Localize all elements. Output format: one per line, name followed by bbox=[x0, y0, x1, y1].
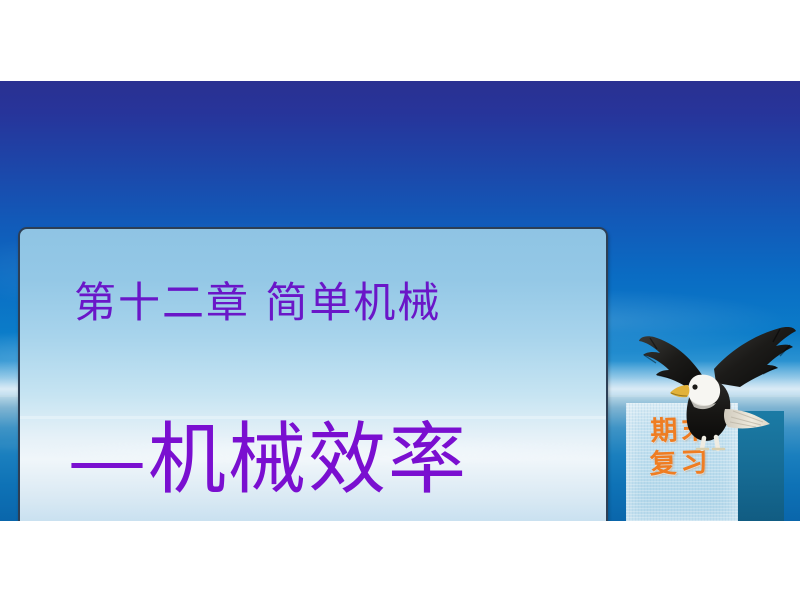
subtitle-mechanical-efficiency: —机械效率 bbox=[68, 421, 468, 499]
chapter-title: 第十二章 简单机械 bbox=[74, 281, 441, 325]
pedestal-text-line2: 复习 bbox=[622, 446, 739, 483]
title-content-panel: 第十二章 简单机械 —机械效率 bbox=[18, 227, 608, 521]
slide-stage: 期末 复习 bbox=[0, 0, 800, 600]
title-content-body: 第十二章 简单机械 —机械效率 bbox=[20, 229, 606, 521]
eagle-right-wing bbox=[714, 327, 796, 387]
eagle-icon bbox=[630, 321, 800, 451]
presentation-slide: 期末 复习 bbox=[0, 81, 800, 521]
eagle-eye bbox=[692, 384, 697, 389]
